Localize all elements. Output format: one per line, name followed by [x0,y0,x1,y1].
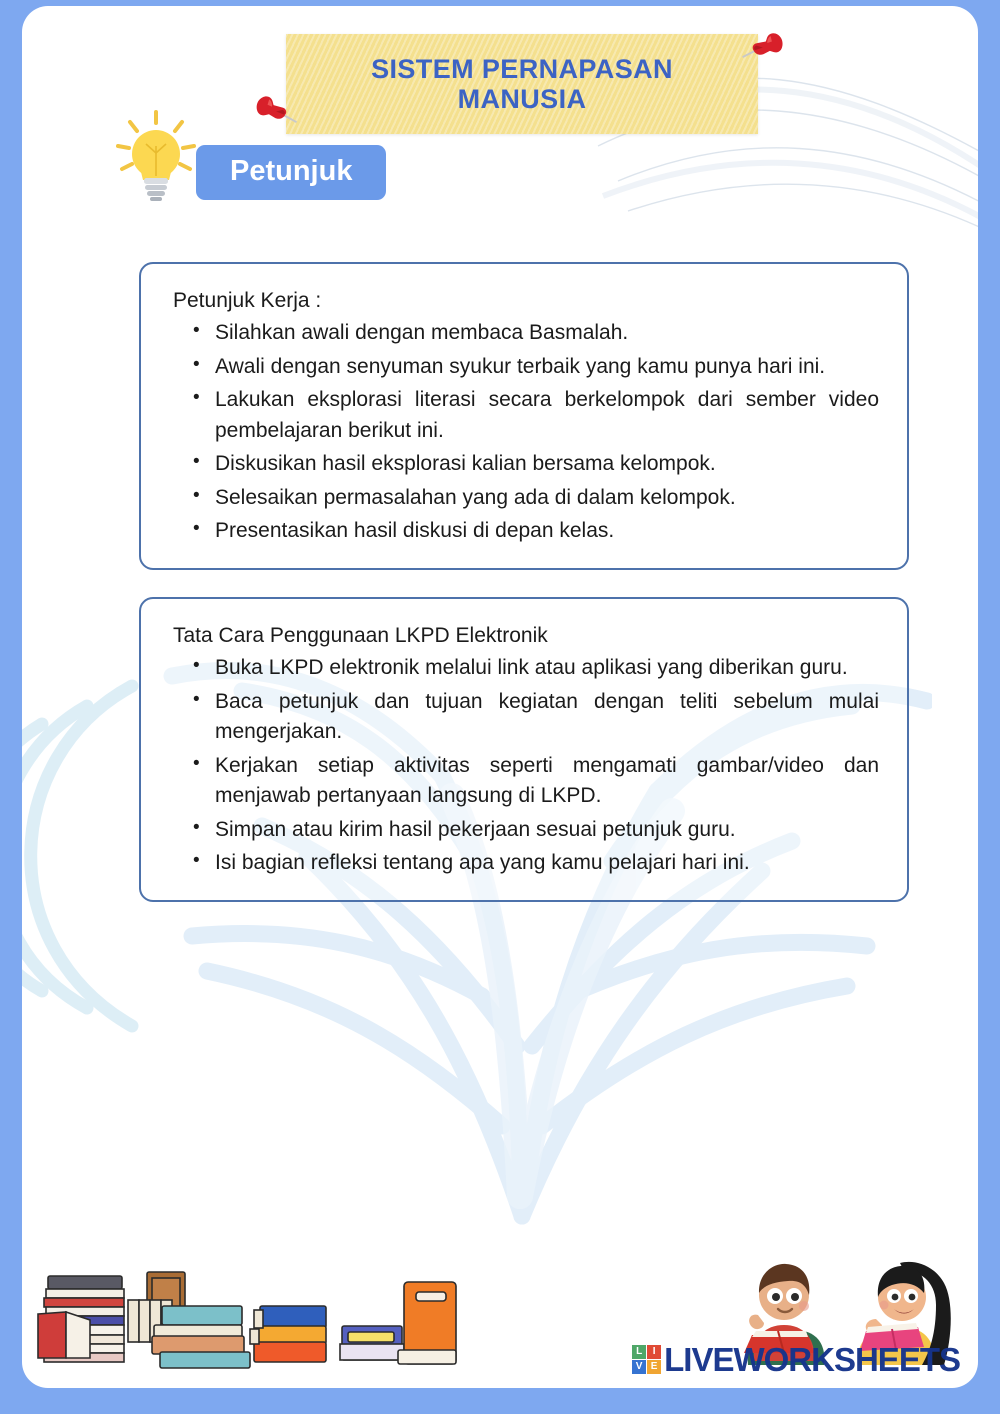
books-stack-illustration [32,1254,492,1374]
instruction-list: Silahkan awali dengan membaca Basmalah. … [173,318,879,546]
box-heading: Tata Cara Penggunaan LKPD Elektronik [173,621,879,651]
instructions-box-lkpd: Tata Cara Penggunaan LKPD Elektronik Buk… [139,597,909,902]
liveworksheets-logo-tiles: L I V E [632,1345,661,1374]
list-item: Lakukan eksplorasi literasi secara berke… [213,385,879,446]
logo-tile-v: V [632,1360,646,1374]
liveworksheets-watermark: L I V E LIVEWORKSHEETS [632,1343,960,1376]
logo-tile-l: L [632,1345,646,1359]
list-item: Diskusikan hasil eksplorasi kalian bersa… [213,449,879,479]
list-item: Awali dengan senyuman syukur terbaik yan… [213,352,879,382]
logo-tile-e: E [647,1360,661,1374]
worksheet-sheet: SISTEM PERNAPASAN MANUSIA [22,6,978,1388]
logo-tile-i: I [647,1345,661,1359]
list-item: Simpan atau kirim hasil pekerjaan sesuai… [213,815,879,845]
list-item: Selesaikan permasalahan yang ada di dala… [213,483,879,513]
list-item: Isi bagian refleksi tentang apa yang kam… [213,848,879,878]
list-item: Baca petunjuk dan tujuan kegiatan dengan… [213,687,879,748]
petunjuk-badge: Petunjuk [196,145,386,200]
list-item: Presentasikan hasil diskusi di depan kel… [213,516,879,546]
instruction-list: Buka LKPD elektronik melalui link atau a… [173,653,879,878]
lightbulb-icon [110,106,202,204]
page-title: SISTEM PERNAPASAN MANUSIA [371,54,673,114]
instructions-box-work: Petunjuk Kerja : Silahkan awali dengan m… [139,262,909,570]
list-item: Kerjakan setiap aktivitas seperti mengam… [213,751,879,812]
liveworksheets-wordmark: LIVEWORKSHEETS [664,1343,960,1376]
page-frame: SISTEM PERNAPASAN MANUSIA [0,0,1000,1414]
list-item: Silahkan awali dengan membaca Basmalah. [213,318,879,348]
section-header: Petunjuk [110,106,386,204]
list-item: Buka LKPD elektronik melalui link atau a… [213,653,879,683]
box-heading: Petunjuk Kerja : [173,286,879,316]
